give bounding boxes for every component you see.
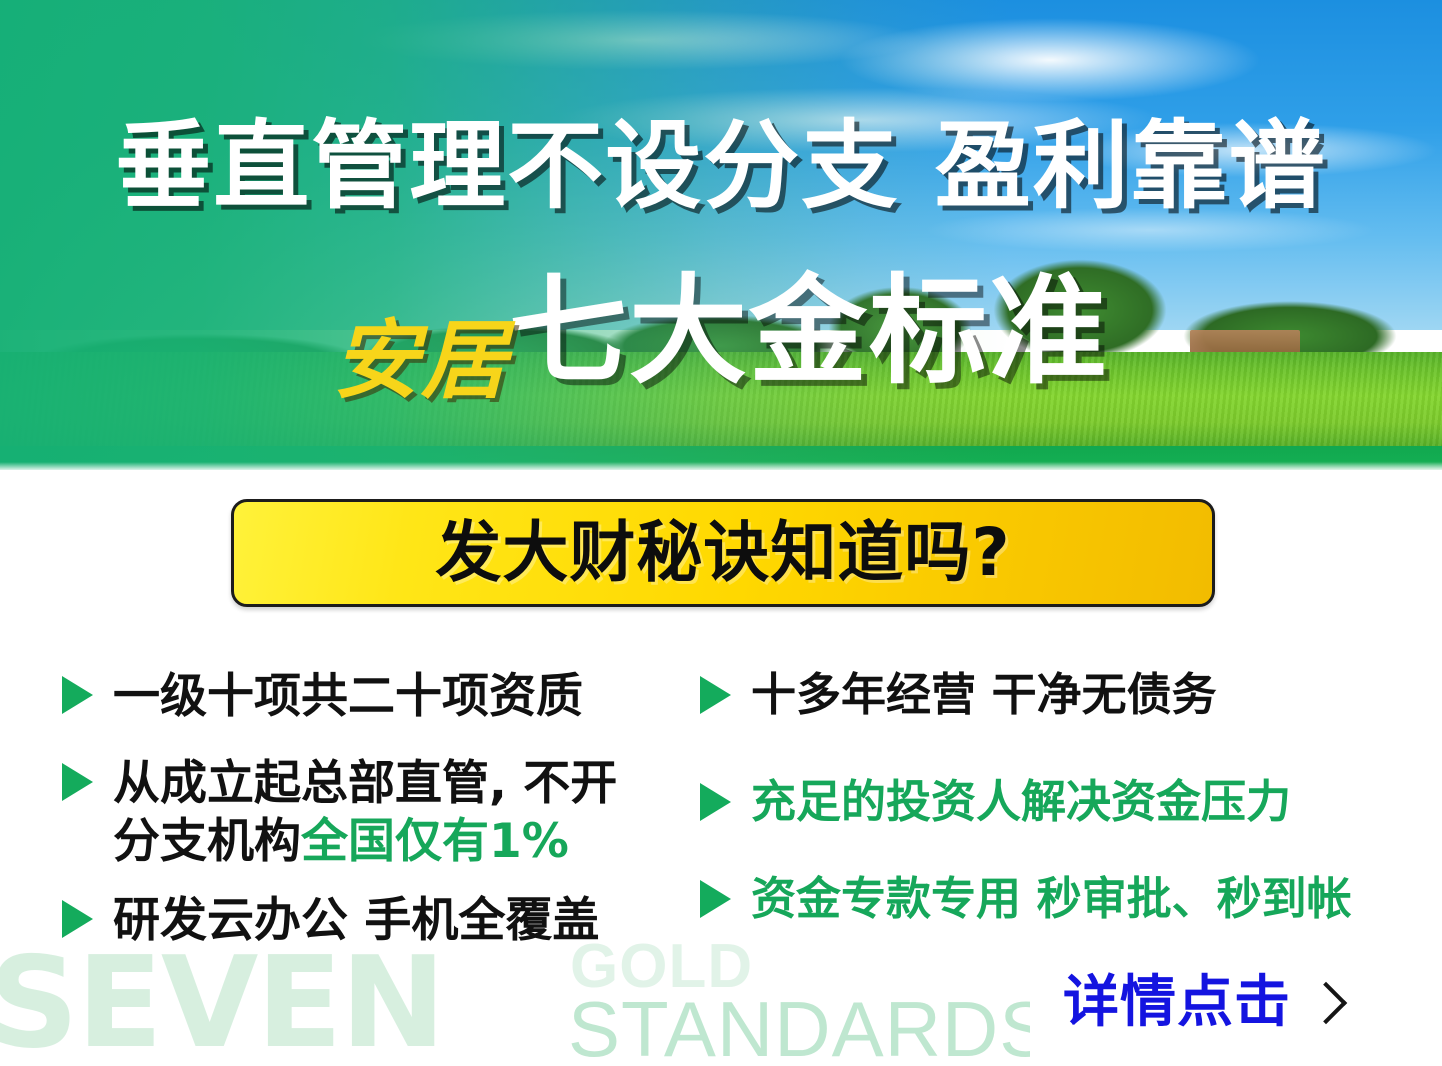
detail-link-label: 详情点击 (1063, 975, 1291, 1031)
promo-poster: 垂直管理不设分支 盈利靠谱 安居七大金标准 SEVEN GOLD STANDAR… (0, 0, 1442, 1066)
hero-seven-gold-standards: 七大金标准 (509, 272, 1109, 390)
triangle-bullet-icon (700, 676, 731, 714)
feature-item: 资金专款专用 秒审批、秒到帐 (700, 872, 1400, 927)
feature-column-left: 一级十项共二十项资质 从成立起总部直管, 不开分支机构全国仅有1% 研发云办公 … (62, 668, 692, 975)
feature-text: 研发云办公 手机全覆盖 (113, 892, 599, 949)
feature-text-line1: 从成立起总部直管, 不开 (113, 756, 617, 811)
detail-link-button[interactable]: 详情点击 (1063, 975, 1341, 1031)
feature-column-right: 十多年经营 干净无债务 充足的投资人解决资金压力 资金专款专用 秒审批、秒到帐 (700, 668, 1400, 953)
headline-cta-label: 发大财秘诀知道吗? (435, 520, 1010, 586)
watermark-standards: STANDARDS (568, 990, 1030, 1066)
hero-headline: 垂直管理不设分支 盈利靠谱 (0, 118, 1442, 214)
feature-item: 充足的投资人解决资金压力 (700, 775, 1400, 830)
feature-text: 从成立起总部直管, 不开分支机构全国仅有1% (113, 755, 617, 870)
triangle-bullet-icon (700, 880, 731, 918)
feature-text: 十多年经营 干净无债务 (751, 668, 1217, 723)
feature-item: 从成立起总部直管, 不开分支机构全国仅有1% (62, 755, 692, 870)
feature-item: 一级十项共二十项资质 (62, 668, 692, 725)
triangle-bullet-icon (62, 763, 93, 801)
feature-text-highlight: 全国仅有1% (301, 814, 569, 869)
hero-subheadline: 安居七大金标准 (0, 272, 1442, 390)
hero-banner: 垂直管理不设分支 盈利靠谱 安居七大金标准 (0, 0, 1442, 470)
feature-item: 十多年经营 干净无债务 (700, 668, 1400, 723)
headline-cta-button[interactable]: 发大财秘诀知道吗? (231, 499, 1215, 607)
triangle-bullet-icon (700, 783, 731, 821)
feature-text: 资金专款专用 秒审批、秒到帐 (751, 872, 1352, 927)
feature-text-line2-prefix: 分支机构 (113, 814, 301, 869)
brand-name-anju: 安居 (333, 318, 509, 404)
triangle-bullet-icon (62, 676, 93, 714)
hero-bottom-fade (0, 462, 1442, 470)
feature-item: 研发云办公 手机全覆盖 (62, 892, 692, 949)
chevron-right-icon (1305, 982, 1347, 1024)
feature-text: 充足的投资人解决资金压力 (751, 775, 1291, 830)
feature-text: 一级十项共二十项资质 (113, 668, 583, 725)
triangle-bullet-icon (62, 900, 93, 938)
